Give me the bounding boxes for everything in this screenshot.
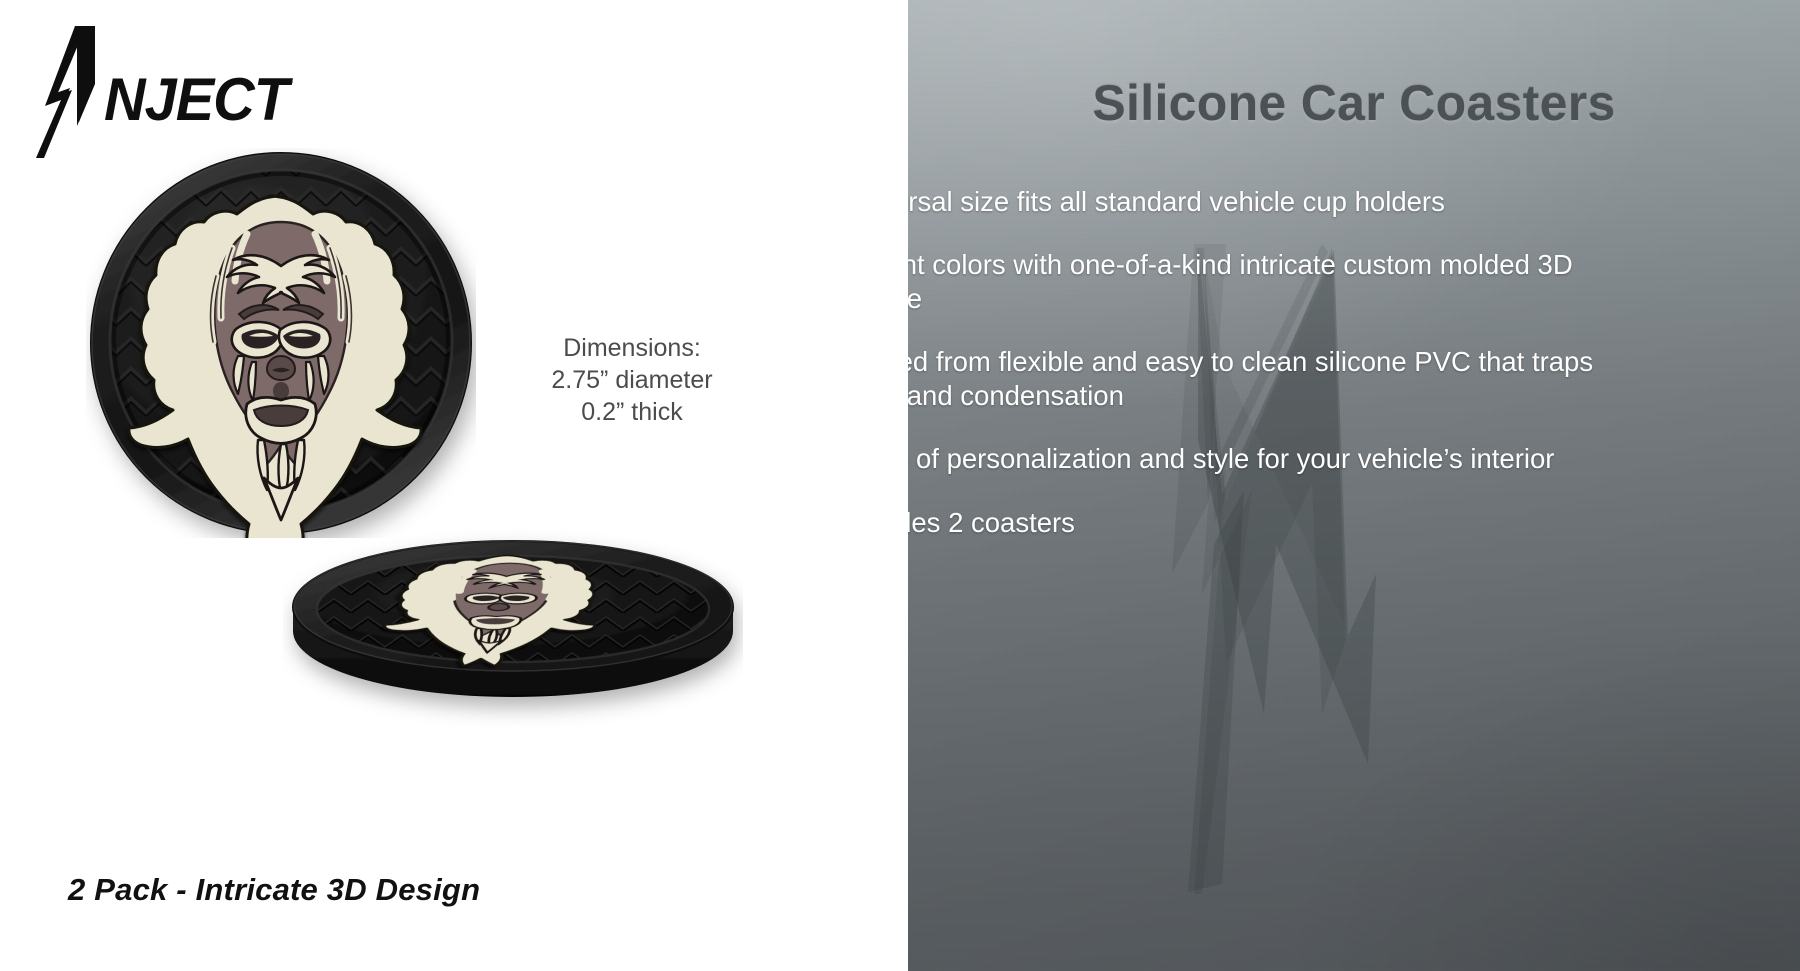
trademark-symbol: ™ (281, 76, 294, 91)
coaster-angled-view (283, 523, 743, 743)
brand-logo: NJECT ™ (32, 26, 322, 156)
feature-bullet: Crafted from flexible and easy to clean … (908, 345, 1628, 413)
lightning-bolt-n-icon (32, 26, 112, 158)
dimensions-caption: Dimensions: 2.75” diameter 0.2” thick (487, 333, 777, 428)
feature-bullet: Includes 2 coasters (908, 506, 1628, 540)
feature-bullet: Universal size fits all standard vehicle… (908, 185, 1628, 219)
feature-bullet-list: Universal size fits all standard vehicle… (908, 185, 1628, 540)
dimensions-heading: Dimensions: (487, 333, 777, 365)
coaster-front-view (86, 148, 476, 538)
panel-title: Silicone Car Coasters (908, 74, 1800, 132)
brand-wordmark: NJECT (104, 70, 288, 130)
product-marketing-image: NJECT ™ (0, 0, 1800, 971)
product-info-panel: Silicone Car Coasters Universal size fit… (908, 0, 1800, 971)
product-image-panel: NJECT ™ (0, 0, 908, 971)
dimension-diameter: 2.75” diameter (487, 365, 777, 397)
pack-caption: 2 Pack - Intricate 3D Design (68, 872, 480, 908)
feature-bullet: A pop of personalization and style for y… (908, 442, 1628, 476)
feature-bullet: Vibrant colors with one-of-a-kind intric… (908, 248, 1628, 316)
dimension-thickness: 0.2” thick (487, 397, 777, 429)
